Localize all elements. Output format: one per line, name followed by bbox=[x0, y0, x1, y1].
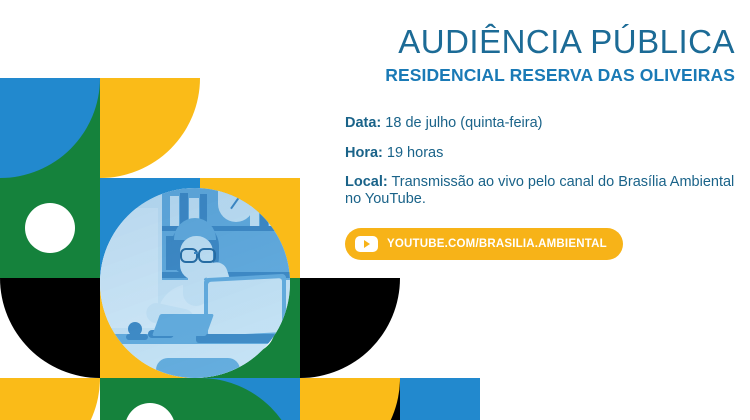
detail-label-hora: Hora: bbox=[345, 145, 383, 161]
photo-scene bbox=[100, 188, 290, 378]
mosaic-tile bbox=[0, 78, 100, 178]
detail-value-local: Transmissão ao vivo pelo canal do Brasíl… bbox=[345, 174, 734, 207]
event-details: Data: 18 de julho (quinta-feira) Hora: 1… bbox=[345, 114, 735, 208]
quarter-circle-shape bbox=[100, 78, 200, 178]
mosaic-tile bbox=[300, 378, 400, 420]
detail-row-local: Local: Transmissão ao vivo pelo canal do… bbox=[345, 174, 735, 208]
mosaic-tile bbox=[100, 378, 200, 420]
poster-canvas: AUDIÊNCIA PÚBLICA RESIDENCIAL RESERVA DA… bbox=[0, 0, 750, 420]
detail-value-hora: 19 horas bbox=[383, 145, 443, 161]
mosaic-tile bbox=[200, 378, 300, 420]
blue-duotone-overlay bbox=[100, 188, 290, 378]
youtube-button-label: YOUTUBE.COM/BRASILIA.AMBIENTAL bbox=[387, 238, 607, 250]
quarter-circle-shape bbox=[0, 278, 100, 378]
quarter-circle-shape bbox=[300, 278, 400, 378]
page-title: AUDIÊNCIA PÚBLICA bbox=[345, 22, 735, 62]
youtube-channel-button[interactable]: YOUTUBE.COM/BRASILIA.AMBIENTAL bbox=[345, 228, 623, 260]
quarter-circle-shape bbox=[300, 378, 400, 420]
mosaic-tile bbox=[0, 278, 100, 378]
detail-row-data: Data: 18 de julho (quinta-feira) bbox=[345, 114, 735, 133]
youtube-play-icon bbox=[355, 236, 378, 252]
quarter-circle-shape bbox=[0, 378, 100, 420]
quarter-circle-shape bbox=[200, 378, 300, 420]
detail-value-data: 18 de julho (quinta-feira) bbox=[381, 115, 542, 131]
detail-label-local: Local: bbox=[345, 174, 388, 190]
detail-row-hora: Hora: 19 horas bbox=[345, 144, 735, 163]
circle-shape bbox=[125, 403, 175, 420]
mosaic-tile bbox=[300, 278, 400, 378]
page-subtitle: RESIDENCIAL RESERVA DAS OLIVEIRAS bbox=[345, 64, 735, 86]
mosaic-tile bbox=[0, 378, 100, 420]
poster-content: AUDIÊNCIA PÚBLICA RESIDENCIAL RESERVA DA… bbox=[345, 22, 735, 260]
woman-with-laptop-photo bbox=[100, 188, 290, 378]
circle-shape bbox=[25, 203, 75, 253]
quarter-circle-shape bbox=[0, 78, 100, 178]
mosaic-tile bbox=[100, 78, 200, 178]
detail-label-data: Data: bbox=[345, 115, 381, 131]
mosaic-tile bbox=[0, 178, 100, 278]
mosaic-tile bbox=[400, 378, 480, 420]
